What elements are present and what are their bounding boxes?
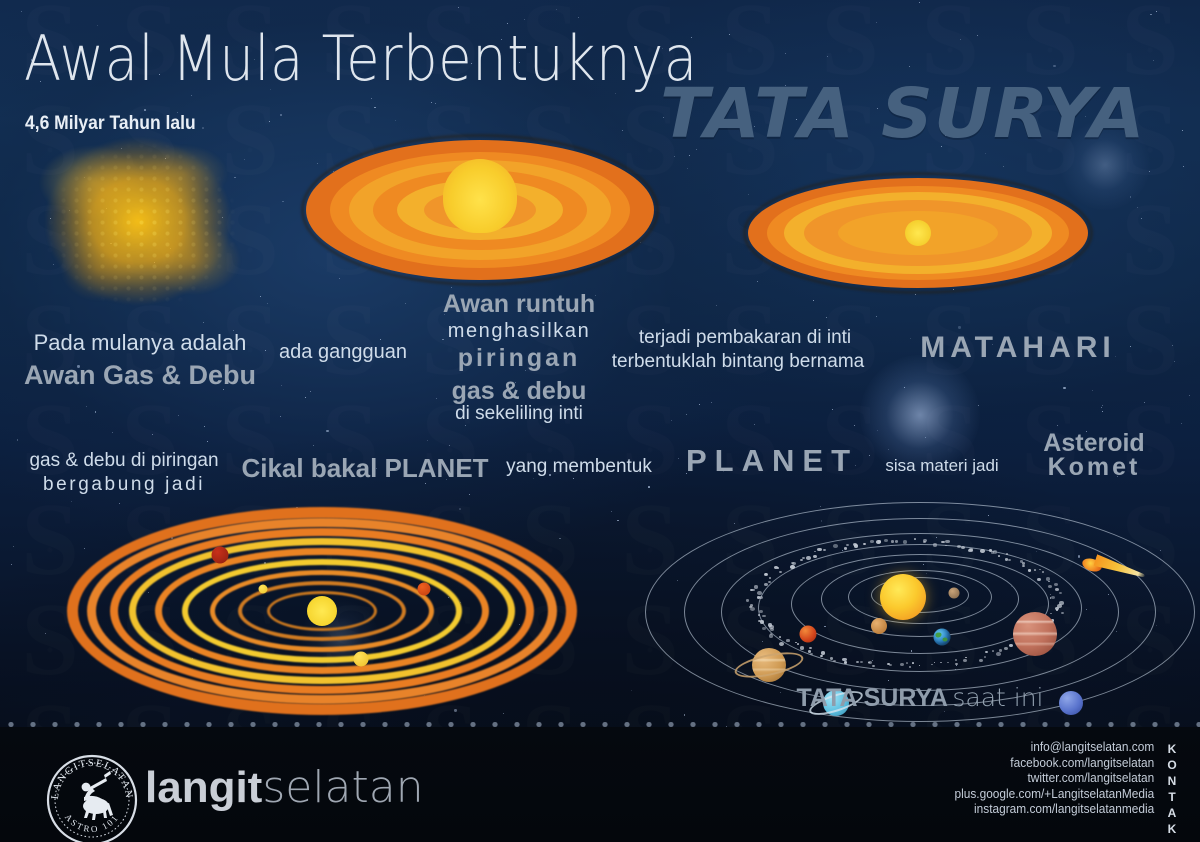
star	[222, 217, 223, 218]
s-watermark-tile: S	[200, 194, 300, 294]
infographic-poster: SSSSSSSSSSSSSSSSSSSSSSSSSSSSSSSSSSSSSSSS…	[0, 0, 1200, 842]
star	[1182, 130, 1183, 131]
asteroid	[909, 666, 911, 667]
asteroid	[870, 540, 873, 543]
star	[395, 120, 396, 121]
star	[785, 53, 786, 54]
s-watermark-tile: S	[0, 194, 100, 294]
asteroid	[1022, 565, 1025, 567]
asteroid	[790, 565, 795, 569]
label-stage1-line1: Pada mulanya adalah	[34, 330, 247, 356]
asteroid	[863, 543, 866, 545]
asteroid	[955, 659, 958, 661]
label-stage6-line2: bergabung jadi	[43, 474, 205, 496]
star	[611, 511, 612, 512]
kontak-letter: K	[1164, 821, 1180, 837]
asteroid	[998, 555, 1000, 557]
label-stage6-line1: gas & debu di piringan	[29, 450, 218, 472]
asteroid	[985, 651, 987, 653]
star	[1053, 65, 1055, 67]
contact-line[interactable]: twitter.com/langitselatan	[954, 771, 1154, 787]
star	[465, 425, 466, 426]
star	[310, 391, 311, 392]
label-stage4-line2: terbentuklah bintang bernama	[612, 351, 864, 373]
star	[50, 218, 51, 219]
asteroid	[774, 566, 778, 569]
asteroid	[757, 591, 762, 595]
asteroid	[795, 642, 797, 643]
star	[1153, 60, 1154, 61]
asteroid	[940, 662, 942, 664]
star	[827, 56, 828, 57]
asteroid	[809, 647, 812, 649]
asteroid	[808, 650, 811, 652]
asteroid	[1061, 612, 1064, 614]
protoplanet-orange	[418, 582, 431, 595]
star	[207, 441, 208, 442]
kontak-letter: A	[1164, 805, 1180, 821]
star	[459, 508, 461, 510]
star	[671, 420, 672, 421]
asteroid	[961, 546, 965, 549]
star	[45, 633, 46, 634]
star	[326, 430, 328, 432]
star	[281, 385, 282, 386]
star	[1101, 407, 1102, 408]
s-watermark-tile: S	[0, 94, 100, 194]
star	[371, 98, 372, 99]
asteroid	[884, 539, 888, 542]
kontak-letter: O	[1164, 757, 1180, 773]
s-watermark-tile: S	[200, 94, 300, 194]
asteroid	[1042, 571, 1044, 572]
star	[978, 405, 979, 406]
protoplanet-red	[211, 547, 228, 564]
asteroid	[844, 547, 848, 550]
star	[203, 322, 204, 323]
asteroid	[1034, 569, 1036, 571]
kontak-label: KONTAK	[1164, 741, 1180, 837]
star	[888, 449, 889, 450]
contact-line[interactable]: facebook.com/langitselatan	[954, 756, 1154, 772]
star	[95, 411, 97, 413]
asteroid	[814, 551, 816, 552]
star	[53, 264, 54, 265]
asteroid	[979, 659, 983, 662]
star	[1092, 390, 1094, 392]
dotted-divider	[0, 722, 1200, 727]
star	[631, 690, 632, 691]
star	[1183, 166, 1184, 167]
asteroid	[906, 662, 908, 664]
comet	[1082, 557, 1144, 577]
star	[1003, 166, 1004, 167]
label-stage9-planet: PLANET	[686, 443, 858, 479]
brand-bold: langit	[145, 763, 262, 812]
asteroid	[768, 581, 771, 583]
star	[339, 278, 340, 279]
asteroid	[846, 544, 849, 546]
planet-neptune	[1059, 691, 1083, 715]
star	[622, 130, 623, 131]
star	[904, 387, 905, 388]
contact-list: info@langitselatan.comfacebook.com/langi…	[954, 740, 1154, 818]
star	[699, 404, 700, 405]
asteroid	[876, 540, 881, 544]
star	[813, 300, 814, 301]
asteroid	[810, 653, 813, 655]
star	[909, 66, 910, 67]
asteroid	[912, 662, 914, 664]
star	[757, 281, 758, 282]
asteroid	[1050, 594, 1052, 595]
star	[716, 305, 717, 306]
asteroid	[945, 540, 950, 544]
star	[958, 326, 960, 328]
star	[925, 437, 926, 438]
star	[754, 424, 755, 425]
asteroid	[762, 615, 766, 618]
star	[458, 7, 459, 8]
star	[1181, 423, 1182, 424]
star	[260, 296, 261, 297]
star	[1174, 361, 1175, 362]
svg-text:LANGITSELATAN: LANGITSELATAN	[50, 758, 134, 800]
asteroid	[991, 551, 994, 554]
asteroid	[792, 562, 797, 566]
star	[154, 262, 155, 263]
asteroid	[1048, 585, 1053, 589]
star	[1189, 395, 1190, 396]
logo-centaur-figure	[82, 771, 113, 820]
s-watermark-tile: S	[900, 394, 1000, 494]
star	[119, 503, 120, 504]
star	[21, 11, 22, 12]
star	[617, 520, 619, 522]
star	[711, 402, 712, 403]
brand-wordmark: langitselatan	[145, 762, 424, 813]
star	[876, 316, 877, 317]
diagram-caption-light: saat ini	[952, 683, 1043, 712]
label-matahari: MATAHARI	[920, 331, 1116, 365]
star	[559, 538, 561, 540]
kontak-letter: T	[1164, 789, 1180, 805]
star	[648, 486, 650, 488]
asteroid	[758, 614, 760, 616]
star	[191, 95, 192, 96]
s-watermark-tile: S	[600, 394, 700, 494]
sun-disk-illustration	[748, 178, 1088, 288]
star	[1137, 207, 1138, 208]
asteroid	[768, 623, 773, 627]
star	[84, 177, 85, 178]
kontak-letter: K	[1164, 741, 1180, 757]
star	[84, 548, 85, 549]
asteroid	[1006, 553, 1008, 555]
brand-light: selatan	[262, 762, 423, 813]
asteroid	[856, 661, 859, 663]
star	[112, 432, 113, 433]
star	[374, 107, 376, 109]
star	[305, 397, 306, 398]
star	[1172, 345, 1173, 346]
asteroid	[947, 662, 949, 664]
protoplanetary-disk-illustration	[78, 518, 566, 704]
star	[427, 440, 428, 441]
asteroid	[914, 538, 916, 540]
page-title: Awal Mula Terbentuknya	[24, 22, 698, 95]
star	[854, 425, 855, 426]
langitselatan-logo-seal: LANGITSELATAN ASTRO 101	[40, 748, 144, 842]
asteroid	[752, 589, 755, 592]
asteroid	[965, 657, 967, 658]
asteroid	[813, 555, 817, 558]
star	[1102, 405, 1103, 406]
protoplanet-yellow	[354, 652, 369, 667]
star	[826, 317, 827, 318]
star	[503, 713, 504, 714]
asteroid	[823, 549, 826, 552]
label-stage8: yang membentuk	[506, 456, 652, 478]
asteroid	[984, 656, 986, 658]
star	[317, 163, 318, 164]
star	[686, 414, 687, 415]
asteroid	[750, 604, 753, 606]
asteroid	[1028, 569, 1032, 572]
star	[11, 564, 12, 565]
star	[687, 168, 688, 169]
solar-system-diagram: TATA SURYA saat ini	[640, 498, 1200, 718]
gas-cloud-speckle	[18, 118, 268, 333]
star	[449, 445, 450, 446]
star	[1102, 411, 1103, 412]
planet-earth	[934, 628, 951, 645]
planet-mars	[800, 626, 817, 643]
asteroid	[779, 571, 783, 574]
planet-venus	[871, 618, 887, 634]
star	[165, 158, 166, 159]
star	[451, 287, 452, 288]
asteroid	[895, 540, 898, 543]
asteroid	[945, 545, 947, 547]
star	[282, 201, 284, 203]
asteroid	[854, 544, 858, 547]
label-komet: Komet	[1048, 453, 1141, 482]
asteroid	[800, 559, 803, 561]
asteroid	[1050, 613, 1052, 614]
planet-jupiter	[1013, 612, 1057, 656]
asteroid	[758, 620, 761, 622]
asteroid	[900, 663, 905, 667]
asteroid	[786, 639, 789, 642]
star	[729, 34, 730, 35]
star	[573, 478, 574, 479]
star	[1130, 346, 1131, 347]
protostar-disk-illustration	[306, 140, 654, 280]
star	[674, 156, 675, 157]
asteroid	[923, 541, 926, 543]
star	[678, 458, 679, 459]
kontak-letter: N	[1164, 773, 1180, 789]
asteroid	[1054, 583, 1058, 586]
asteroid	[1008, 559, 1011, 562]
star	[106, 208, 107, 209]
asteroid	[980, 549, 985, 553]
label-stage7: Cikal bakal PLANET	[241, 453, 488, 484]
star	[1057, 425, 1058, 426]
asteroid	[765, 573, 767, 575]
star	[170, 248, 171, 249]
asteroid	[762, 627, 766, 630]
asteroid	[759, 610, 763, 613]
contact-line[interactable]: instagram.com/langitselatanmedia	[954, 802, 1154, 818]
star	[121, 148, 122, 149]
planet-saturn	[752, 648, 786, 682]
contact-line[interactable]: plus.google.com/+LangitselatanMedia	[954, 787, 1154, 803]
diagram-caption-bold: TATA SURYA	[796, 684, 947, 712]
star	[960, 39, 961, 40]
asteroid	[903, 540, 908, 544]
asteroid	[931, 664, 933, 666]
star	[431, 102, 432, 103]
label-stage10: sisa materi jadi	[885, 456, 998, 476]
asteroid	[1009, 644, 1013, 647]
asteroid	[1039, 569, 1041, 571]
planet-mercury	[948, 587, 959, 598]
asteroid	[779, 636, 781, 638]
asteroid	[957, 545, 961, 548]
s-watermark-tile: S	[1100, 194, 1200, 294]
star	[110, 243, 112, 245]
star	[313, 445, 314, 446]
asteroid	[1048, 581, 1050, 582]
label-stage2: ada gangguan	[279, 341, 407, 364]
star	[267, 303, 268, 304]
star	[1130, 196, 1132, 198]
star	[533, 478, 534, 479]
s-watermark-tile: S	[100, 194, 200, 294]
star	[578, 17, 579, 18]
asteroid	[860, 661, 863, 664]
asteroid	[1059, 592, 1062, 595]
star	[202, 127, 204, 129]
star	[1156, 11, 1158, 13]
star	[86, 406, 87, 407]
star	[13, 546, 14, 547]
asteroid	[963, 659, 967, 662]
asteroid	[833, 544, 838, 548]
asteroid	[1051, 596, 1055, 599]
asteroid	[996, 652, 1001, 656]
star	[280, 114, 282, 116]
label-stage3-line3: piringan	[458, 344, 581, 373]
star	[1144, 402, 1145, 403]
asteroid	[764, 583, 768, 586]
asteroid	[1059, 601, 1064, 605]
asteroid	[1055, 588, 1059, 591]
star	[17, 439, 19, 441]
asteroid	[1037, 578, 1041, 581]
big-title-tata-surya: TATA SURYA	[660, 74, 1146, 154]
asteroid	[934, 662, 936, 663]
asteroid	[769, 577, 771, 579]
asteroid	[754, 585, 759, 589]
protoplanet-yellow-small	[259, 584, 268, 593]
star	[915, 294, 916, 295]
asteroid	[833, 660, 836, 663]
asteroid	[919, 665, 921, 666]
label-stage4-line1: terjadi pembakaran di inti	[639, 327, 851, 349]
star	[234, 177, 236, 179]
star	[1063, 387, 1065, 389]
asteroid	[802, 557, 805, 560]
contact-line[interactable]: info@langitselatan.com	[954, 740, 1154, 756]
star	[876, 22, 877, 23]
star	[442, 339, 444, 341]
star	[71, 501, 72, 502]
star	[689, 155, 690, 156]
label-stage3-line4: gas & debu	[452, 377, 587, 406]
logo-arc-top: LANGITSELATAN	[50, 758, 134, 800]
star	[436, 398, 437, 399]
asteroid	[891, 540, 895, 543]
star	[144, 109, 146, 111]
star	[877, 430, 878, 431]
asteroid	[842, 658, 847, 662]
page-subtitle: 4,6 Milyar Tahun lalu	[25, 113, 196, 135]
asteroid	[933, 543, 938, 547]
star	[1141, 218, 1142, 219]
planet-sun	[880, 574, 926, 620]
star	[1149, 171, 1150, 172]
label-stage3-line5: di sekeliling inti	[455, 403, 583, 425]
asteroid	[872, 665, 875, 667]
star	[178, 415, 179, 416]
star	[869, 455, 870, 456]
s-watermark-tile: S	[100, 94, 200, 194]
star	[244, 159, 245, 160]
label-stage1-line2: Awan Gas & Debu	[24, 360, 256, 391]
asteroid	[992, 650, 994, 652]
asteroid	[800, 646, 805, 650]
asteroid	[844, 661, 847, 663]
star	[405, 303, 406, 304]
star	[435, 103, 436, 104]
asteroid	[821, 651, 825, 654]
star	[280, 416, 281, 417]
star	[265, 350, 266, 351]
star	[152, 434, 153, 435]
star	[832, 409, 833, 410]
star	[269, 121, 270, 122]
star	[69, 210, 70, 211]
star	[1150, 14, 1152, 16]
asteroid	[817, 548, 822, 552]
star	[919, 2, 920, 3]
star	[204, 426, 205, 427]
asteroid	[955, 663, 959, 666]
star	[556, 9, 557, 10]
asteroid	[820, 655, 823, 657]
asteroid	[806, 556, 811, 560]
label-stage3-line2: menghasilkan	[448, 320, 591, 343]
asteroid	[1004, 647, 1008, 650]
star	[977, 35, 978, 36]
asteroid	[779, 642, 784, 646]
asteroid	[746, 599, 749, 602]
label-stage3-line1: Awan runtuh	[443, 290, 595, 319]
star	[524, 19, 525, 20]
